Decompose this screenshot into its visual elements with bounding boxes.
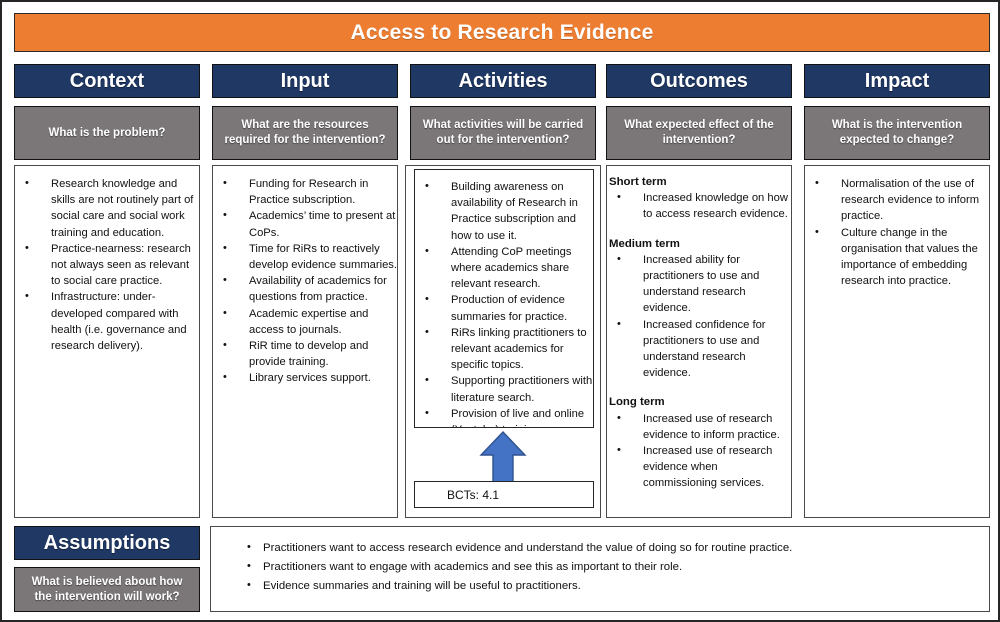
list-item: Practitioners want to engage with academ… [211,558,989,577]
bullet-list-impact: Normalisation of the use of research evi… [805,176,989,289]
bullet-list-context: Research knowledge and skills are not ro… [15,176,199,354]
column-body-outcomes: Short term Increased knowledge on how to… [606,165,792,518]
bullet-list-input: Funding for Research in Practice subscri… [213,176,397,387]
list-item: Evidence summaries and training will be … [211,577,989,596]
list-item: Increased use of research evidence to in… [607,411,791,443]
list-item: Culture change in the organisation that … [805,225,989,290]
assumptions-body: Practitioners want to access research ev… [210,526,990,612]
list-item: Supporting practitioners with literature… [415,373,593,405]
assumptions-header: Assumptions [14,526,200,560]
column-body-activities: Building awareness on availability of Re… [405,165,601,518]
activities-inner-box: Building awareness on availability of Re… [414,169,594,428]
list-item: Normalisation of the use of research evi… [805,176,989,225]
bullet-list-outcomes-long: Increased use of research evidence to in… [607,411,791,492]
list-item: Funding for Research in Practice subscri… [213,176,397,208]
list-item: Provision of live and online (Youtube) t… [415,406,593,428]
outcomes-group-label-short: Short term [607,174,791,190]
list-item: Academic expertise and access to journal… [213,306,397,338]
column-body-context: Research knowledge and skills are not ro… [14,165,200,518]
column-question-activities: What activities will be carried out for … [410,106,596,160]
bullet-list-outcomes-short: Increased knowledge on how to access res… [607,190,791,222]
up-arrow-icon [479,431,527,483]
column-header-input: Input [212,64,398,98]
column-header-impact: Impact [804,64,990,98]
outcomes-group-label-long: Long term [607,394,791,410]
list-item: Time for RiRs to reactively develop evid… [213,241,397,273]
list-item: Infrastructure: under-developed compared… [15,289,199,354]
list-item: Production of evidence summaries for pra… [415,292,593,324]
bullet-list-outcomes-medium: Increased ability for practitioners to u… [607,252,791,382]
list-item: Practice-nearness: research not always s… [15,241,199,290]
list-item: Academics’ time to present at CoPs. [213,208,397,240]
list-item: RiR time to develop and provide training… [213,338,397,370]
page-title: Access to Research Evidence [14,13,990,52]
list-item: Increased use of research evidence when … [607,443,791,492]
list-item: RiRs linking practitioners to relevant a… [415,325,593,374]
group-spacer [607,381,791,394]
list-item: Research knowledge and skills are not ro… [15,176,199,241]
list-item: Library services support. [213,370,397,386]
bullet-list-assumptions: Practitioners want to access research ev… [211,539,989,596]
column-header-outcomes: Outcomes [606,64,792,98]
column-question-impact: What is the intervention expected to cha… [804,106,990,160]
list-item: Increased knowledge on how to access res… [607,190,791,222]
bcts-box: BCTs: 4.1 [414,481,594,508]
column-body-impact: Normalisation of the use of research evi… [804,165,990,518]
column-body-input: Funding for Research in Practice subscri… [212,165,398,518]
outcomes-group-label-medium: Medium term [607,236,791,252]
list-item: Increased ability for practitioners to u… [607,252,791,317]
assumptions-question: What is believed about how the intervent… [14,567,200,612]
list-item: Attending CoP meetings where academics s… [415,244,593,293]
column-header-activities: Activities [410,64,596,98]
column-header-context: Context [14,64,200,98]
list-item: Availability of academics for questions … [213,273,397,305]
bullet-list-activities: Building awareness on availability of Re… [415,179,593,428]
column-question-context: What is the problem? [14,106,200,160]
list-item: Building awareness on availability of Re… [415,179,593,244]
bcts-label: BCTs: 4.1 [447,488,499,502]
logic-model-frame: Access to Research Evidence Context What… [0,0,1000,622]
column-question-outcomes: What expected effect of the intervention… [606,106,792,160]
list-item: Increased confidence for practitioners t… [607,317,791,382]
list-item: Practitioners want to access research ev… [211,539,989,558]
column-question-input: What are the resources required for the … [212,106,398,160]
group-spacer [607,223,791,236]
